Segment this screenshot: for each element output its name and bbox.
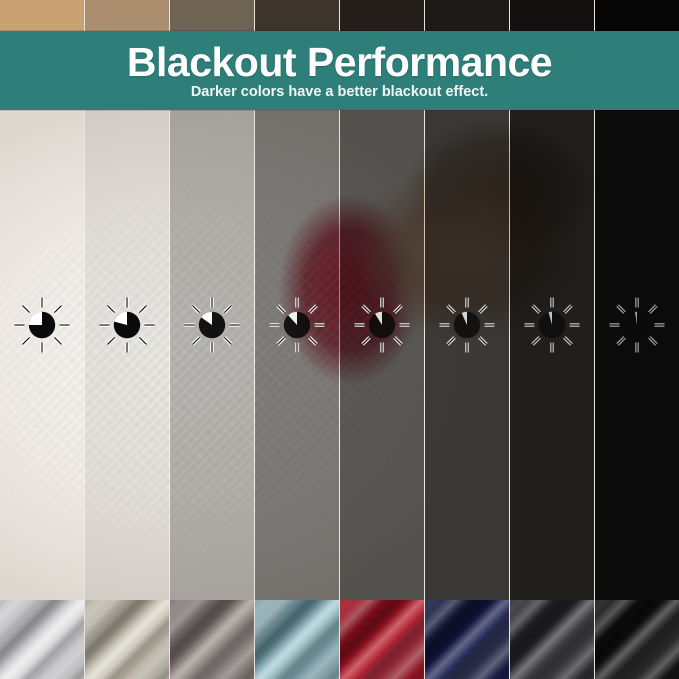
- sun-brightness-icon: [96, 294, 158, 356]
- sun-brightness-icon: [521, 294, 583, 356]
- fabric-swatch-light-blue[interactable]: [255, 600, 339, 679]
- sun-brightness-icon: [351, 294, 413, 356]
- top-swatch-dark-gray: [510, 0, 594, 31]
- page-subtitle: Darker colors have a better blackout eff…: [191, 85, 488, 100]
- fabric-fold-shadow: [595, 600, 679, 679]
- sun-brightness-icon: [436, 294, 498, 356]
- fabric-swatch-navy[interactable]: [425, 600, 509, 679]
- top-swatch-navy: [425, 0, 509, 31]
- fabric-fold-shadow: [170, 600, 254, 679]
- fabric-fold-shadow: [0, 600, 84, 679]
- top-swatch-white: [0, 0, 84, 31]
- top-swatch-taupe: [170, 0, 254, 31]
- top-swatch-cream: [85, 0, 169, 31]
- top-swatch-light-blue: [255, 0, 339, 31]
- banner: Blackout Performance Darker colors have …: [0, 31, 679, 110]
- fabric-fold-shadow: [340, 600, 424, 679]
- page-title: Blackout Performance: [127, 42, 552, 83]
- sun-brightness-icon: [606, 294, 668, 356]
- fabric-fold-shadow: [255, 600, 339, 679]
- top-swatch-black: [595, 0, 679, 31]
- fabric-swatch-taupe[interactable]: [170, 600, 254, 679]
- sun-brightness-icon: [266, 294, 328, 356]
- fabric-fold-shadow: [85, 600, 169, 679]
- fabric-fold-shadow: [510, 600, 594, 679]
- fabric-swatch-dark-gray[interactable]: [510, 600, 594, 679]
- fabric-swatch-black[interactable]: [595, 600, 679, 679]
- fabric-swatch-red[interactable]: [340, 600, 424, 679]
- fabric-swatch-cream[interactable]: [85, 600, 169, 679]
- sun-brightness-icon: [181, 294, 243, 356]
- fabric-fold-shadow: [425, 600, 509, 679]
- fabric-swatch-white[interactable]: [0, 600, 84, 679]
- sun-brightness-icon: [11, 294, 73, 356]
- top-swatch-red: [340, 0, 424, 31]
- blackout-performance-infographic: Blackout Performance Darker colors have …: [0, 0, 679, 679]
